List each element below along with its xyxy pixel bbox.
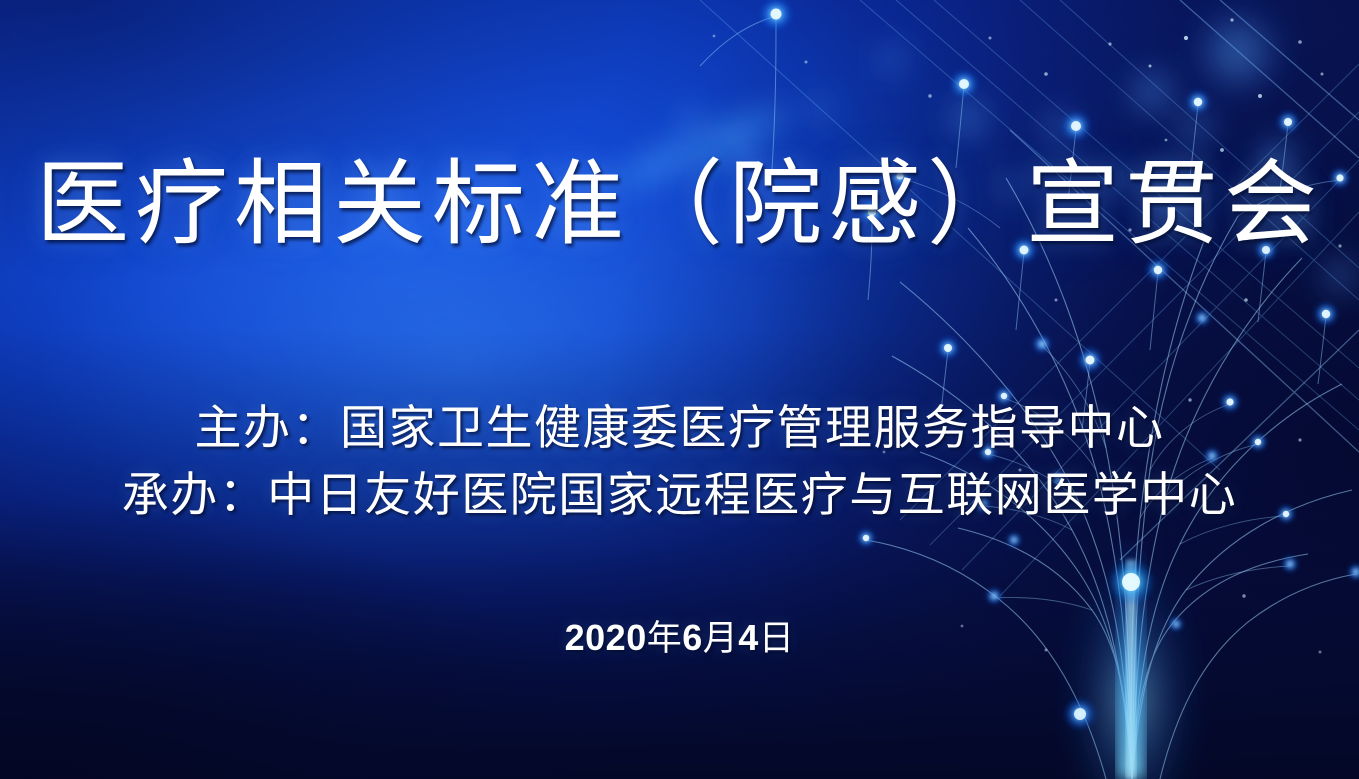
date-month-unit: 月 [703, 619, 739, 658]
date-day-unit: 日 [759, 619, 795, 658]
organizer-coorganizer-line: 承办：中日友好医院国家远程医疗与互联网医学中心 [0, 463, 1359, 530]
date-year-unit: 年 [647, 619, 683, 658]
presentation-slide: 医疗相关标准（院感）宣贯会 主办：国家卫生健康委医疗管理服务指导中心 承办：中日… [0, 0, 1359, 779]
date-year-number: 2020 [565, 617, 647, 658]
slide-date: 2020年6月4日 [0, 610, 1359, 661]
date-month-number: 6 [682, 617, 703, 658]
organizer-host-line: 主办：国家卫生健康委医疗管理服务指导中心 [0, 396, 1359, 463]
date-day-number: 4 [738, 617, 759, 658]
slide-title: 医疗相关标准（院感）宣贯会 [0, 159, 1359, 252]
slide-text-layer: 医疗相关标准（院感）宣贯会 主办：国家卫生健康委医疗管理服务指导中心 承办：中日… [0, 0, 1359, 779]
organizer-block: 主办：国家卫生健康委医疗管理服务指导中心 承办：中日友好医院国家远程医疗与互联网… [0, 396, 1359, 530]
